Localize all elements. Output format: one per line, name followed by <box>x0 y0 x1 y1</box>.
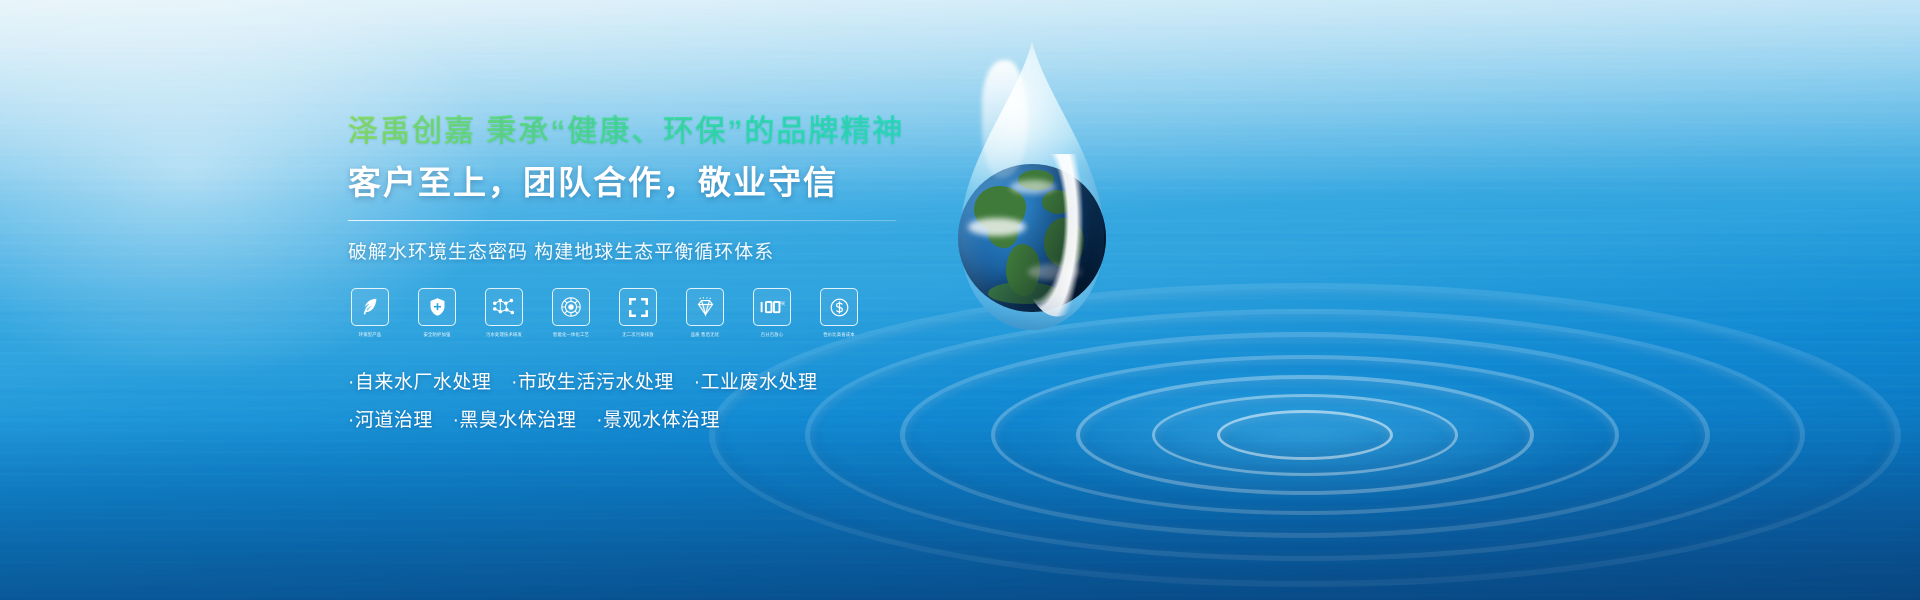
service-row: ·河道治理 ·黑臭水体治理 ·景观水体治理 <box>348 402 968 440</box>
feather-leaf-icon <box>351 288 389 326</box>
banner-content: 泽禹创嘉 秉承“健康、环保”的品牌精神 客户至上，团队合作，敬业守信 破解水环境… <box>348 112 968 440</box>
gear-flower-icon <box>552 288 590 326</box>
badge-label: 无二次污染排放 <box>617 331 659 338</box>
hundred-percent-icon: % <box>753 288 791 326</box>
service-item-landscape-water[interactable]: ·景观水体治理 <box>596 410 720 431</box>
badge-cost-effective[interactable]: 性价比高省成本 <box>817 288 861 338</box>
badge-label: 品质 售后无忧 <box>684 331 726 338</box>
svg-text:%: % <box>780 302 785 308</box>
feature-badges: 环保型产品 安全防护加强 <box>348 288 968 338</box>
hero-banner: 泽禹创嘉 秉承“健康、环保”的品牌精神 客户至上，团队合作，敬业守信 破解水环境… <box>0 0 1920 600</box>
service-item-tap-water[interactable]: ·自来水厂水处理 <box>348 372 491 393</box>
badge-hundred-percent[interactable]: % 百分百放心 <box>750 288 794 338</box>
dollar-circle-icon <box>820 288 858 326</box>
badge-label: 环保型产品 <box>349 331 391 338</box>
badge-quality-aftersales[interactable]: 品质 售后无忧 <box>683 288 727 338</box>
water-droplet-with-earth <box>952 42 1112 332</box>
diamond-icon <box>686 288 724 326</box>
headline-brand-spirit: 泽禹创嘉 秉承“健康、环保”的品牌精神 <box>348 112 968 152</box>
badge-label: 百分百放心 <box>751 331 793 338</box>
service-item-black-odorous-water[interactable]: ·黑臭水体治理 <box>453 410 577 431</box>
scan-frame-icon <box>619 288 657 326</box>
badge-safety-shield[interactable]: 安全防护加强 <box>415 288 459 338</box>
earth-globe-icon <box>958 164 1106 312</box>
service-item-industrial-wastewater[interactable]: ·工业废水处理 <box>694 372 818 393</box>
divider <box>348 220 896 221</box>
badge-rnd-technology[interactable]: 污水处理技术研发 <box>482 288 526 338</box>
badge-label: 智能化一体化工艺 <box>550 331 592 338</box>
shield-plus-icon <box>418 288 456 326</box>
service-item-municipal-sewage[interactable]: ·市政生活污水处理 <box>511 372 674 393</box>
badge-integrated-process[interactable]: 智能化一体化工艺 <box>549 288 593 338</box>
molecule-net-icon <box>485 288 523 326</box>
headline-values: 客户至上，团队合作，敬业守信 <box>348 160 968 206</box>
badge-label: 性价比高省成本 <box>818 331 860 338</box>
service-row: ·自来水厂水处理 ·市政生活污水处理 ·工业废水处理 <box>348 364 968 402</box>
badge-label: 污水处理技术研发 <box>483 331 525 338</box>
badge-eco-product[interactable]: 环保型产品 <box>348 288 392 338</box>
earth-shadow <box>958 164 1106 312</box>
service-list: ·自来水厂水处理 ·市政生活污水处理 ·工业废水处理 ·河道治理 ·黑臭水体治理… <box>348 364 968 440</box>
badge-label: 安全防护加强 <box>416 331 458 338</box>
tagline: 破解水环境生态密码 构建地球生态平衡循环体系 <box>348 237 968 264</box>
service-item-river-treatment[interactable]: ·河道治理 <box>348 410 433 431</box>
badge-no-secondary-pollution[interactable]: 无二次污染排放 <box>616 288 660 338</box>
